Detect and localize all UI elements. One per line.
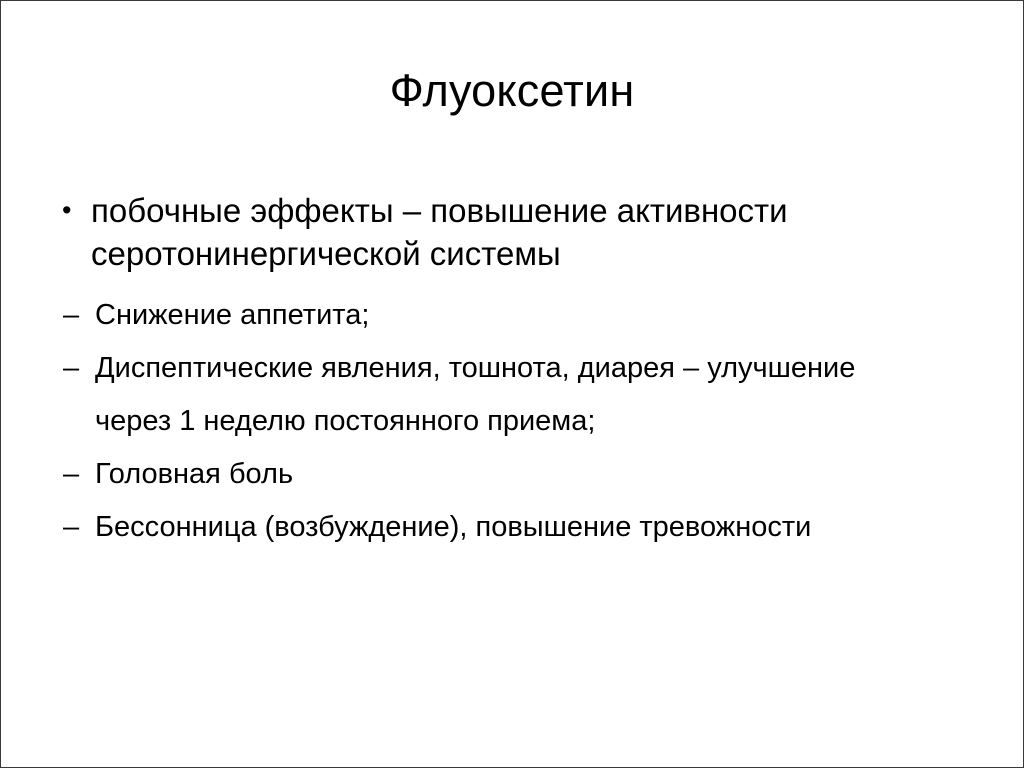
bullet-item-level2: – Головная боль — [53, 448, 953, 501]
bullet-item-level2-label: Диспептические явления, тошнота, диарея … — [95, 342, 885, 448]
bullet-item-level1: • побочные эффекты – повышение активност… — [53, 189, 953, 275]
bullet-item-level2: – Диспептические явления, тошнота, диаре… — [53, 342, 953, 448]
bullet-item-level2: – Снижение аппетита; — [53, 289, 953, 342]
bullet-item-level2: – Бессонница (возбуждение), повышение тр… — [53, 501, 953, 554]
bullet-item-level2-label: Головная боль — [95, 448, 885, 501]
bullet-marker-icon: • — [53, 189, 91, 232]
bullet-item-level2-label: Бессонница (возбуждение), повышение трев… — [95, 501, 885, 554]
dash-marker-icon: – — [53, 448, 95, 501]
bullet-item-level2-label: Снижение аппетита; — [95, 289, 885, 342]
presentation-slide: Флуоксетин • побочные эффекты – повышени… — [0, 0, 1024, 768]
bullet-item-level1-label: побочные эффекты – повышение активности … — [91, 189, 929, 275]
dash-marker-icon: – — [53, 501, 95, 554]
dash-marker-icon: – — [53, 342, 95, 395]
sub-bullet-list: – Снижение аппетита; – Диспептические яв… — [53, 289, 953, 554]
slide-title: Флуоксетин — [1, 65, 1023, 117]
slide-body-content: • побочные эффекты – повышение активност… — [53, 189, 953, 554]
dash-marker-icon: – — [53, 289, 95, 342]
